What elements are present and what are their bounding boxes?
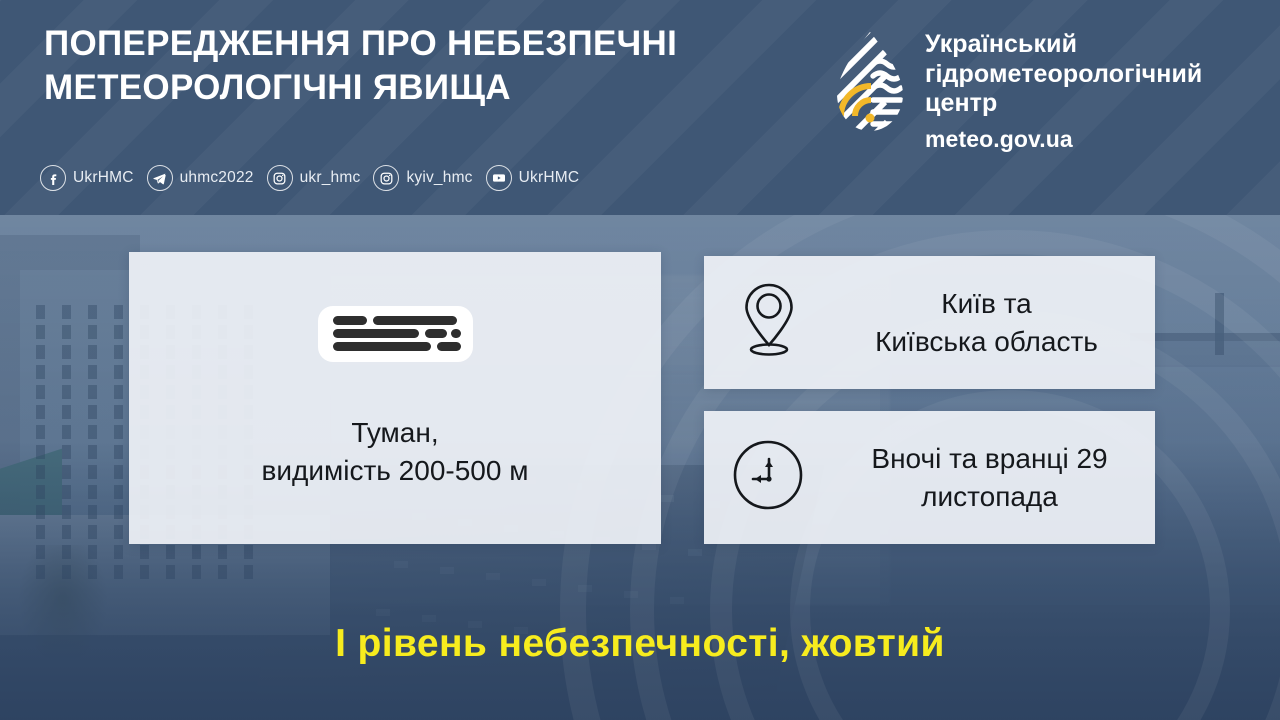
- telegram-icon: [147, 165, 173, 191]
- social-link-facebook[interactable]: UkrHMC: [40, 165, 134, 191]
- location-card: Київ таКиївська область: [704, 256, 1155, 389]
- time-text: Вночі та вранці 29листопада: [824, 440, 1155, 515]
- time-card: Вночі та вранці 29листопада: [704, 411, 1155, 544]
- social-label: uhmc2022: [180, 169, 254, 187]
- social-link-instagram-kyiv[interactable]: kyiv_hmc: [373, 165, 472, 191]
- social-link-telegram[interactable]: uhmc2022: [147, 165, 254, 191]
- youtube-icon: [486, 165, 512, 191]
- organization-name: Український гідрометеорологічний центр: [925, 30, 1280, 119]
- phenomenon-card: Туман,видимість 200-500 м: [129, 252, 661, 544]
- organization-logo-block: Український гідрометеорологічний центр m…: [833, 30, 1280, 153]
- page-title: ПОПЕРЕДЖЕННЯ ПРО НЕБЕЗПЕЧНІ МЕТЕОРОЛОГІЧ…: [44, 22, 804, 110]
- instagram-icon: [373, 165, 399, 191]
- social-label: ukr_hmc: [300, 169, 361, 187]
- organization-url: meteo.gov.ua: [925, 126, 1280, 153]
- social-label: UkrHMC: [73, 169, 134, 187]
- ukrhmc-droplet-logo: [833, 30, 907, 134]
- clock-icon: [730, 437, 806, 518]
- infographic-canvas: ПОПЕРЕДЖЕННЯ ПРО НЕБЕЗПЕЧНІ МЕТЕОРОЛОГІЧ…: [0, 0, 1280, 720]
- social-label: UkrHMC: [519, 169, 580, 187]
- social-link-youtube[interactable]: UkrHMC: [486, 165, 580, 191]
- social-link-instagram-ukr[interactable]: ukr_hmc: [267, 165, 361, 191]
- facebook-icon: [40, 165, 66, 191]
- fog-icon: [318, 306, 473, 362]
- danger-level-text: І рівень небезпечності, жовтий: [0, 622, 1280, 666]
- social-label: kyiv_hmc: [406, 169, 472, 187]
- instagram-icon: [267, 165, 293, 191]
- map-pin-icon: [738, 279, 800, 366]
- location-text: Київ таКиївська область: [818, 285, 1155, 360]
- phenomenon-text: Туман,видимість 200-500 м: [262, 414, 529, 489]
- social-links-row: UkrHMC uhmc2022: [40, 165, 579, 191]
- header-bar: ПОПЕРЕДЖЕННЯ ПРО НЕБЕЗПЕЧНІ МЕТЕОРОЛОГІЧ…: [0, 0, 1280, 215]
